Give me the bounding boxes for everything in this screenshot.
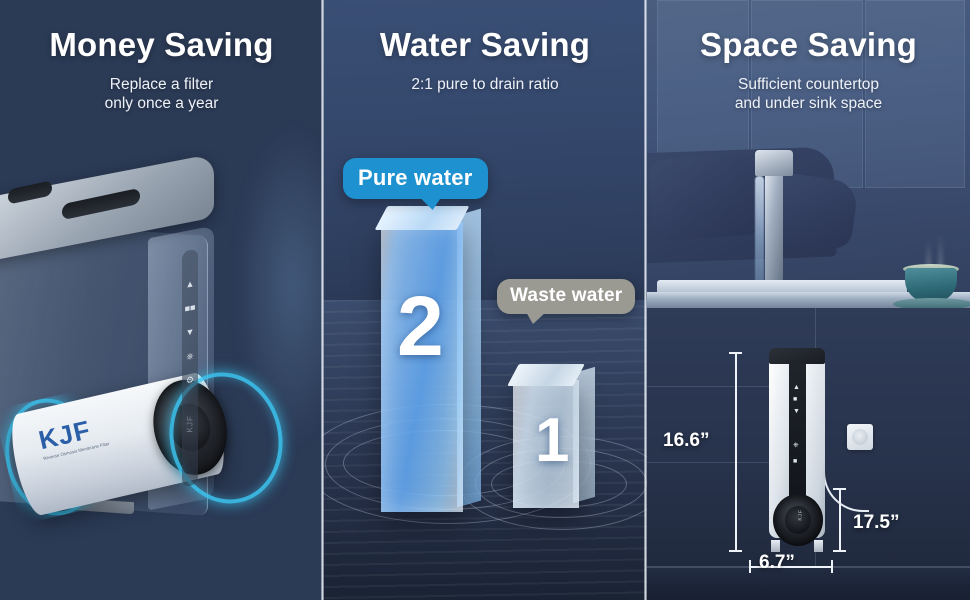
pillow <box>648 151 767 242</box>
panel-divider-1 <box>321 0 324 600</box>
dim-width-label: 6.7” <box>759 552 795 574</box>
down-arrow-icon: ▼ <box>793 408 800 415</box>
waste-water-block-top <box>507 364 585 386</box>
purifier-leg <box>771 540 780 552</box>
purifier-brand-text: KJF <box>797 509 803 520</box>
down-arrow-icon: ▼ <box>186 327 195 338</box>
panel-2-subtitle-line1: 2:1 pure to drain ratio <box>333 75 637 94</box>
purifier-leg <box>814 540 823 552</box>
panel-water-saving: Water Saving 2:1 pure to drain ratio 2 1… <box>323 0 647 600</box>
waste-water-block-number: 1 <box>535 410 569 472</box>
purifier-control-strip: ▲ ■■ ▼ ⎈ ⚙ <box>182 248 198 487</box>
product-feature-banner: Money Saving Replace a filter only once … <box>0 0 970 600</box>
dim-depth-line <box>839 488 841 550</box>
waste-water-badge: Waste water <box>497 279 635 314</box>
panel-3-title: Space Saving <box>657 26 960 64</box>
up-arrow-icon: ▲ <box>793 384 800 391</box>
faucet-head <box>755 150 793 176</box>
dots-icon: ■ <box>793 396 797 403</box>
dim-height-cap-bottom <box>729 550 742 552</box>
installed-purifier-unit: ▲ ■ ▼ ⎈ ■ KJF <box>769 348 825 552</box>
faucet-column <box>765 158 783 298</box>
dots-icon: ■■ <box>185 303 196 314</box>
panel-money-saving: Money Saving Replace a filter only once … <box>0 0 323 600</box>
panel-1-subtitle: Replace a filter only once a year <box>10 75 313 114</box>
panel-3-subtitle-line2: and under sink space <box>657 94 960 113</box>
purifier-center-column <box>789 360 806 510</box>
filter-label: KJF Reverse Osmosis Membrane Filter <box>36 401 161 463</box>
panel-2-heading-block: Water Saving 2:1 pure to drain ratio <box>323 26 647 94</box>
panel-3-heading-block: Space Saving Sufficient countertop and u… <box>647 26 970 114</box>
panel-2-subtitle: 2:1 pure to drain ratio <box>333 75 637 94</box>
dim-height-line <box>735 352 737 550</box>
panel-space-saving: Space Saving Sufficient countertop and u… <box>647 0 970 600</box>
pure-water-badge-tail <box>419 197 444 210</box>
dim-depth-label: 17.5” <box>853 512 899 534</box>
pure-water-badge-label: Pure water <box>343 158 488 199</box>
dim-depth-cap-bottom <box>833 550 846 552</box>
dim-width-cap-right <box>831 560 833 573</box>
settings-icon: ⚙ <box>186 375 194 386</box>
panel-1-heading-block: Money Saving Replace a filter only once … <box>0 26 323 114</box>
purifier-dispenser-bowl: KJF <box>773 494 823 546</box>
purifier-top <box>769 348 825 364</box>
pure-water-badge: Pure water <box>343 158 488 199</box>
power-icon: ⎈ <box>186 351 193 361</box>
panel-1-subtitle-line2: only once a year <box>10 94 313 113</box>
waste-water-badge-tail <box>524 312 546 324</box>
panel-1-title: Money Saving <box>10 26 313 64</box>
panel-1-subtitle-line1: Replace a filter <box>10 75 313 94</box>
panel-3-subtitle: Sufficient countertop and under sink spa… <box>657 75 960 114</box>
pure-water-block-number: 2 <box>397 284 444 368</box>
floor <box>647 568 970 600</box>
waste-water-badge-label: Waste water <box>497 279 635 314</box>
dim-height-label: 16.6” <box>663 430 709 452</box>
power-icon: ⎈ <box>793 442 799 449</box>
panel-3-subtitle-line1: Sufficient countertop <box>657 75 960 94</box>
settings-icon: ■ <box>793 458 797 465</box>
panel-2-title: Water Saving <box>333 26 637 64</box>
panel-divider-2 <box>644 0 647 600</box>
up-arrow-icon: ▲ <box>186 279 195 290</box>
